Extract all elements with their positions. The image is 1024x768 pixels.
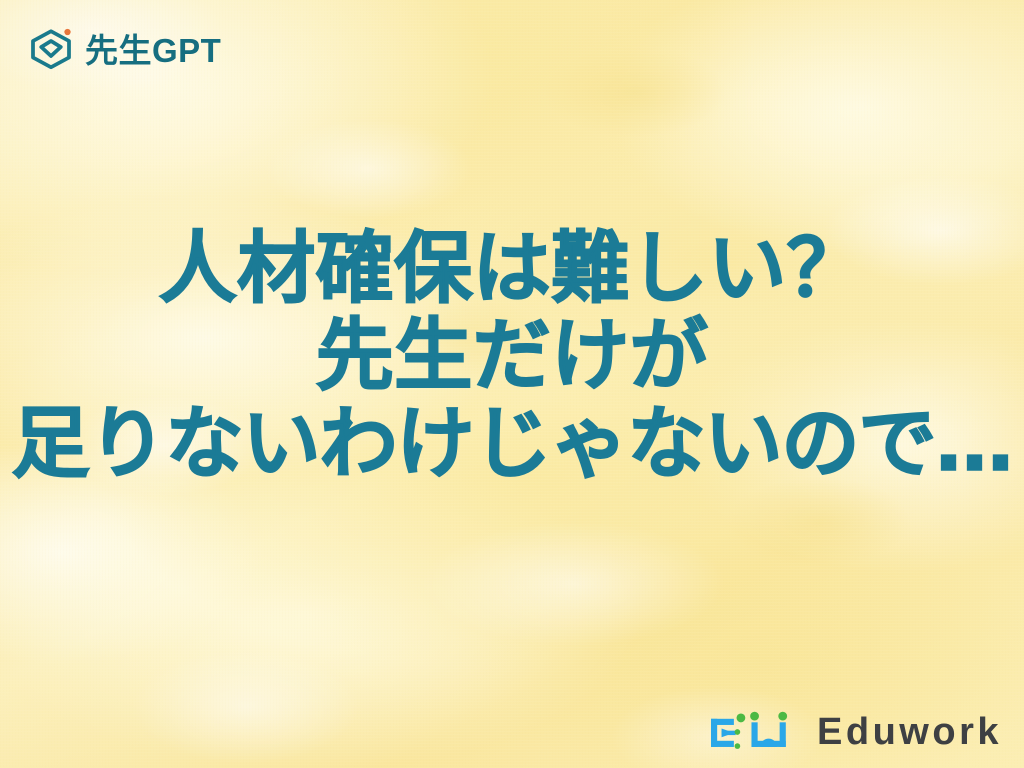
brand-lockup[interactable]: 先生GPT <box>27 26 221 74</box>
headline-line-1: 人材確保は難しい？ <box>0 226 1024 313</box>
headline-block: 人材確保は難しい？ 先生だけが 足りないわけじゃないので… <box>0 226 1024 488</box>
graduation-cap-hexagon-icon <box>27 26 75 74</box>
headline-line-3: 足りないわけじゃないので… <box>0 401 1024 488</box>
eduwork-wordmark: Eduwork <box>817 713 1002 751</box>
orange-dot-icon <box>64 29 70 35</box>
slide-canvas: 先生GPT 人材確保は難しい？ 先生だけが 足りないわけじゃないので… <box>0 0 1024 768</box>
brand-wordmark: 先生GPT <box>85 34 221 67</box>
headline-line-2: 先生だけが <box>0 313 1024 400</box>
eduwork-logo[interactable]: Eduwork <box>709 710 1002 754</box>
eduwork-e-w-mark-icon <box>709 710 801 754</box>
